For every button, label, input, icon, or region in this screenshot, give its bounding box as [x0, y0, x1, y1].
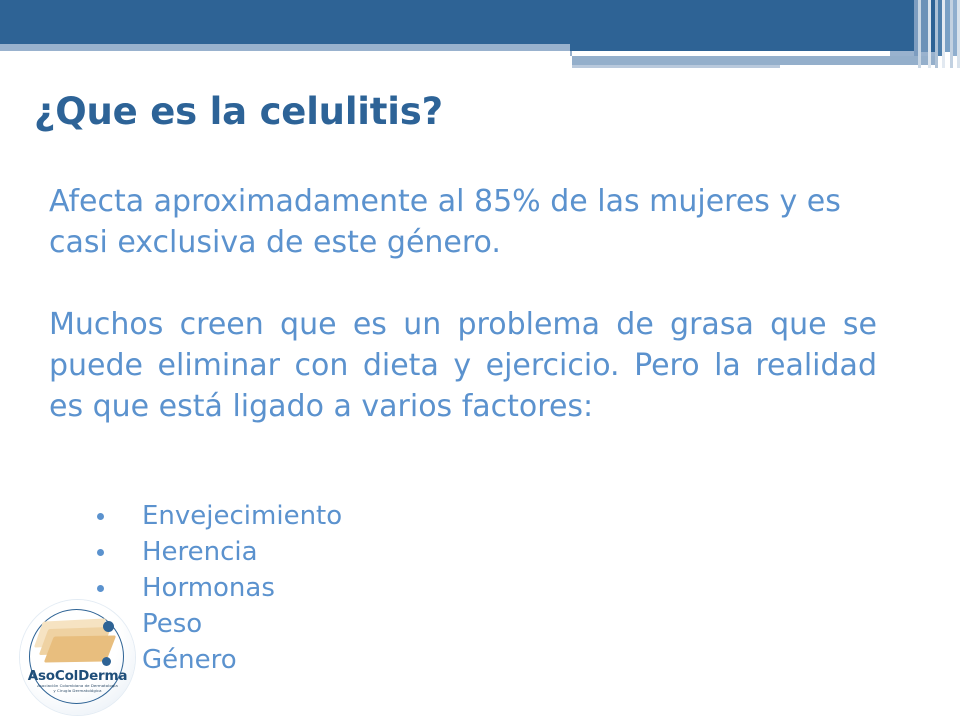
list-item: Género — [95, 642, 595, 678]
bullet-dot-icon — [97, 585, 104, 592]
list-item-label: Herencia — [142, 537, 258, 567]
logo-dot-lower-icon — [102, 657, 111, 666]
header-band-dark — [0, 0, 935, 44]
bullet-dot-icon — [97, 513, 104, 520]
list-item-label: Género — [142, 645, 237, 675]
list-item: Hormonas — [95, 570, 595, 606]
list-item-label: Hormonas — [142, 573, 275, 603]
slide-title: ¿Que es la celulitis? — [34, 90, 443, 133]
logo-subtitle: Asociación Colombiana de Dermatología y … — [20, 683, 135, 693]
header-band-light-left — [0, 44, 570, 51]
list-item: Peso — [95, 606, 595, 642]
paragraph-spacer — [49, 263, 877, 304]
list-item-label: Envejecimiento — [142, 501, 342, 531]
header-band-light-lower — [572, 56, 935, 65]
asocolderma-logo: AsoColDerma Asociación Colombiana de Der… — [20, 600, 135, 715]
bullet-dot-icon — [97, 549, 104, 556]
list-item-label: Peso — [142, 609, 202, 639]
header-stripe-3 — [921, 0, 928, 52]
header-band-light-lower-accent — [572, 65, 780, 68]
header-decoration — [0, 0, 960, 72]
list-item: Herencia — [95, 534, 595, 570]
slide: ¿Que es la celulitis? Afecta aproximadam… — [0, 0, 960, 720]
body-paragraph-2: Muchos creen que es un problema de grasa… — [49, 304, 877, 427]
list-item: Envejecimiento — [95, 498, 595, 534]
header-band-dark-extension — [570, 44, 935, 51]
logo-name: AsoColDerma — [20, 668, 135, 684]
logo-dot-upper-icon — [103, 621, 114, 632]
slide-body: Afecta aproximadamente al 85% de las muj… — [49, 181, 877, 427]
factors-list: Envejecimiento Herencia Hormonas Peso Gé… — [95, 498, 595, 678]
logo-subtitle-line-2: y Cirugía Dermatológica — [20, 688, 135, 693]
body-paragraph-1: Afecta aproximadamente al 85% de las muj… — [49, 181, 877, 263]
